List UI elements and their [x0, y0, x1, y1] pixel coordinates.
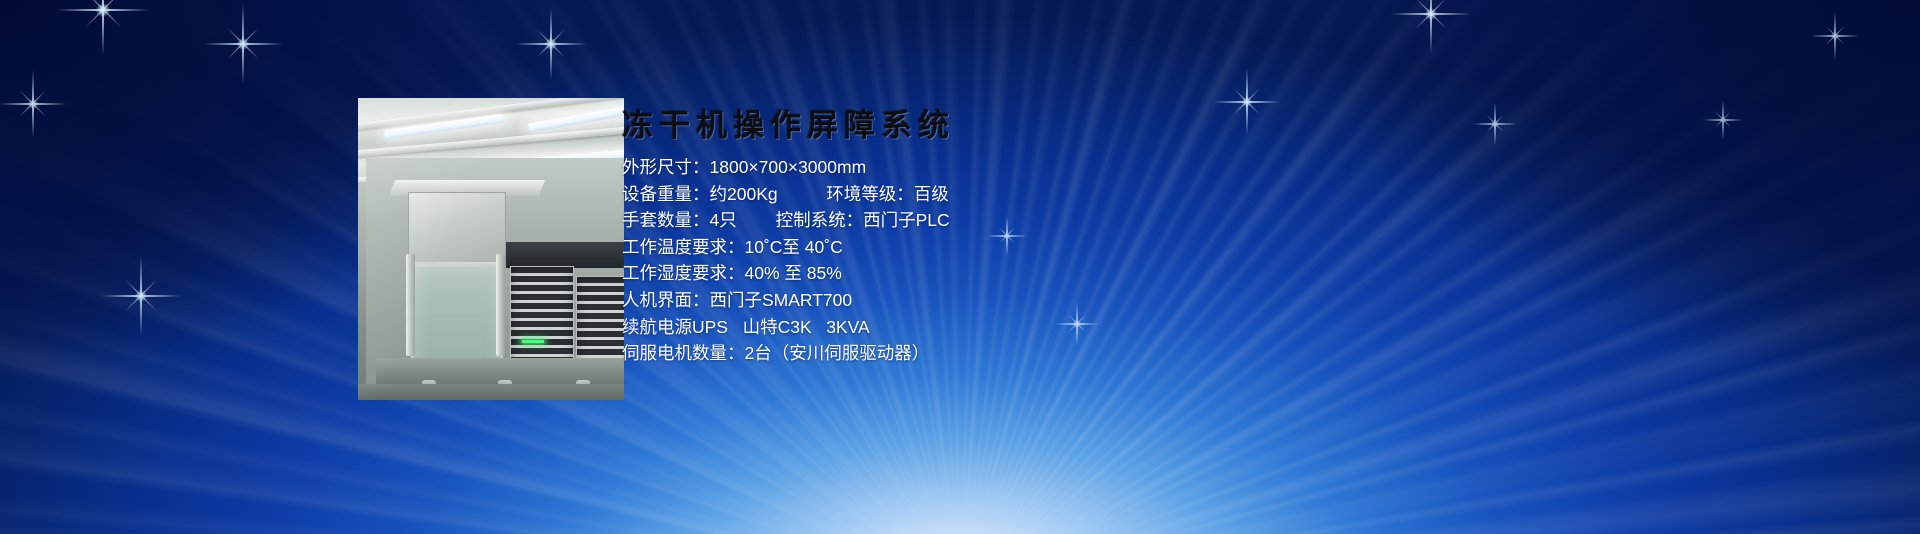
isolator-unit — [366, 158, 624, 392]
spec-line-weight-grade: 设备重量：约200Kg 环境等级：百级 — [622, 181, 1262, 208]
banner-copy: 冻干机操作屏障系统 外形尺寸：1800×700×3000mm设备重量：约200K… — [622, 104, 1262, 367]
page-title: 冻干机操作屏障系统 — [622, 104, 1262, 148]
spec-line-temperature: 工作温度要求：10˚C至 40˚C — [622, 234, 1262, 261]
spec-list: 外形尺寸：1800×700×3000mm设备重量：约200Kg 环境等级：百级手… — [622, 154, 1262, 367]
spec-line-humidity: 工作湿度要求：40% 至 85% — [622, 260, 1262, 287]
status-led — [522, 340, 544, 343]
product-photo-image — [358, 98, 624, 400]
spec-line-servo: 伺服电机数量：2台（安川伺服驱动器） — [622, 340, 1262, 367]
product-photo — [358, 98, 624, 400]
spec-line-dimensions: 外形尺寸：1800×700×3000mm — [622, 154, 1262, 181]
spec-line-hmi: 人机界面：西门子SMART700 — [622, 287, 1262, 314]
cleanroom-floor — [358, 384, 624, 400]
isolator-post-left — [406, 254, 415, 356]
isolator-hood — [408, 192, 506, 268]
spec-line-ups: 续航电源UPS 山特C3K 3KVA — [622, 314, 1262, 341]
promo-banner: 冻干机操作屏障系统 外形尺寸：1800×700×3000mm设备重量：约200K… — [0, 0, 1920, 534]
isolator-post-right — [496, 254, 505, 356]
tray-rack-shadow — [506, 242, 624, 268]
spec-line-gloves-plc: 手套数量：4只 控制系统：西门子PLC — [622, 207, 1262, 234]
